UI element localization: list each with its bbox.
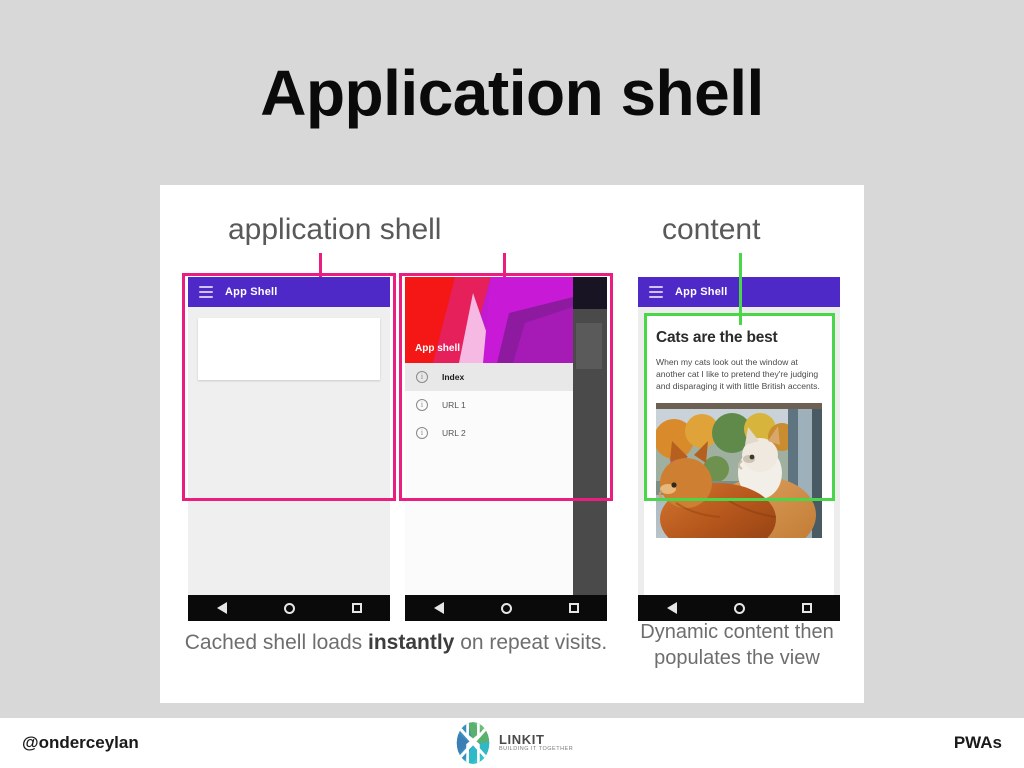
home-circle-icon[interactable]	[734, 603, 745, 614]
cats-photo-graphic	[656, 403, 822, 538]
drawer-screen: App shell i Index i URL 1 i URL 2	[405, 277, 607, 595]
android-nav-bar	[405, 595, 607, 621]
screen-body: Cats are the best When my cats look out …	[638, 307, 840, 595]
caption-right-line-2: populates the view	[624, 645, 850, 671]
caption-right-line-1: Dynamic content then	[624, 619, 850, 645]
linkit-logo-icon	[455, 721, 491, 765]
article-card: Cats are the best When my cats look out …	[644, 315, 834, 595]
caption-left-prefix: Cached shell loads	[185, 631, 368, 654]
home-circle-icon[interactable]	[284, 603, 295, 614]
logo-name: LINKIT	[499, 733, 573, 747]
android-nav-bar	[188, 595, 390, 621]
drawer-item-label: URL 1	[442, 400, 466, 410]
caption-left: Cached shell loads instantly on repeat v…	[174, 631, 618, 655]
recents-square-icon[interactable]	[802, 603, 812, 613]
drawer-scrim	[573, 277, 607, 595]
drawer-item-label: URL 2	[442, 428, 466, 438]
drawer-item-url-1[interactable]: i URL 1	[405, 391, 573, 419]
app-bar-title: App Shell	[225, 286, 278, 298]
footer-author-handle: @onderceylan	[22, 733, 139, 753]
hamburger-icon[interactable]	[199, 286, 213, 298]
placeholder-card	[198, 318, 380, 380]
article-title: Cats are the best	[656, 329, 822, 347]
caption-left-emphasis: instantly	[368, 631, 454, 654]
caption-left-suffix: on repeat visits.	[454, 631, 607, 654]
hamburger-icon[interactable]	[649, 286, 663, 298]
presentation-slide: Application shell application shell cont…	[0, 0, 1024, 768]
navigation-drawer: App shell i Index i URL 1 i URL 2	[405, 277, 573, 595]
info-icon: i	[416, 399, 428, 411]
slide-footer: @onderceylan	[0, 718, 1024, 768]
info-icon: i	[416, 371, 428, 383]
android-nav-bar	[638, 595, 840, 621]
drawer-header-label: App shell	[415, 343, 460, 354]
phone-mockup-navigation-drawer: App shell i Index i URL 1 i URL 2	[405, 277, 607, 621]
app-bar: App Shell	[188, 277, 390, 307]
annotation-label-content: content	[662, 213, 760, 247]
connector-line-content	[739, 253, 742, 325]
diagram-image: application shell content App Shell	[160, 185, 864, 703]
home-circle-icon[interactable]	[501, 603, 512, 614]
caption-right: Dynamic content then populates the view	[624, 619, 850, 671]
app-bar-title: App Shell	[675, 286, 728, 298]
logo-text-block: LINKIT BUILDING IT TOGETHER	[499, 733, 573, 752]
screen-body	[188, 307, 390, 595]
article-body: When my cats look out the window at anot…	[656, 356, 822, 393]
drawer-header-art: App shell	[405, 277, 573, 363]
footer-logo: LINKIT BUILDING IT TOGETHER	[455, 721, 573, 765]
drawer-item-index[interactable]: i Index	[405, 363, 573, 391]
page-title: Application shell	[0, 60, 1024, 127]
back-triangle-icon[interactable]	[434, 602, 444, 614]
logo-tagline: BUILDING IT TOGETHER	[499, 747, 573, 753]
back-triangle-icon[interactable]	[217, 602, 227, 614]
drawer-item-url-2[interactable]: i URL 2	[405, 419, 573, 447]
phone-mockup-shell-empty: App Shell	[188, 277, 390, 621]
drawer-item-label: Index	[442, 372, 464, 382]
annotation-label-application-shell: application shell	[228, 213, 441, 247]
recents-square-icon[interactable]	[569, 603, 579, 613]
recents-square-icon[interactable]	[352, 603, 362, 613]
back-triangle-icon[interactable]	[667, 602, 677, 614]
article-photo	[656, 403, 822, 538]
connector-line-shell-left	[319, 253, 322, 277]
footer-topic: PWAs	[954, 733, 1002, 753]
connector-line-shell-right	[503, 253, 506, 277]
phone-mockup-content-loaded: App Shell Cats are the best When my cats…	[638, 277, 840, 621]
info-icon: i	[416, 427, 428, 439]
